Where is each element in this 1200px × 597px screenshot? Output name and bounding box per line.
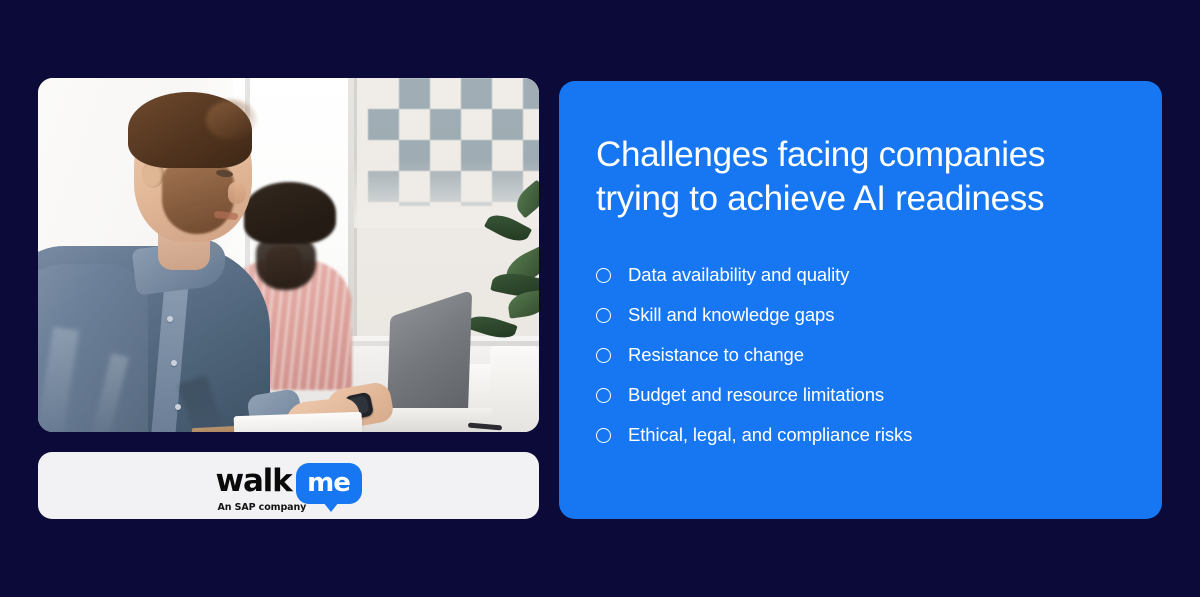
list-item-label: Resistance to change <box>628 346 804 365</box>
photo-checkered-wall-fade <box>354 78 539 228</box>
circle-bullet-icon <box>596 308 611 323</box>
list-item: Ethical, legal, and compliance risks <box>596 415 1122 455</box>
brand-logo-card: walk me An SAP company <box>38 452 539 519</box>
list-item: Resistance to change <box>596 335 1122 375</box>
circle-bullet-icon <box>596 428 611 443</box>
photo-person-back-beard <box>256 236 316 290</box>
list-item: Budget and resource limitations <box>596 375 1122 415</box>
walkme-logo-tagline: An SAP company <box>218 502 307 513</box>
walkme-logo-wordmark: walk <box>216 466 292 497</box>
challenges-panel: Challenges facing companies trying to ac… <box>559 81 1162 519</box>
photo-plant-pot-front <box>490 346 538 432</box>
office-team-photo <box>38 78 539 432</box>
circle-bullet-icon <box>596 268 611 283</box>
circle-bullet-icon <box>596 388 611 403</box>
panel-title: Challenges facing companies trying to ac… <box>596 133 1122 221</box>
list-item: Data availability and quality <box>596 255 1122 295</box>
photo-person-front-nose <box>228 182 246 204</box>
walkme-logo: walk me An SAP company <box>216 463 362 504</box>
office-team-photo-card <box>38 78 539 432</box>
photo-person-front-hair <box>128 92 252 168</box>
photo-person-back-hair <box>244 182 336 244</box>
slide-canvas: walk me An SAP company Challenges facing… <box>0 0 1200 597</box>
list-item-label: Budget and resource limitations <box>628 386 884 405</box>
list-item-label: Data availability and quality <box>628 266 849 285</box>
walkme-logo-bubble-text: me <box>307 470 350 496</box>
circle-bullet-icon <box>596 348 611 363</box>
list-item-label: Ethical, legal, and compliance risks <box>628 426 912 445</box>
list-item-label: Skill and knowledge gaps <box>628 306 834 325</box>
walkme-logo-bubble-icon: me <box>296 463 362 504</box>
list-item: Skill and knowledge gaps <box>596 295 1122 335</box>
challenges-list: Data availability and quality Skill and … <box>596 255 1122 455</box>
photo-shirt-button-1 <box>167 316 173 322</box>
photo-shirt-button-2 <box>171 360 177 366</box>
photo-notebook-white <box>234 412 363 432</box>
